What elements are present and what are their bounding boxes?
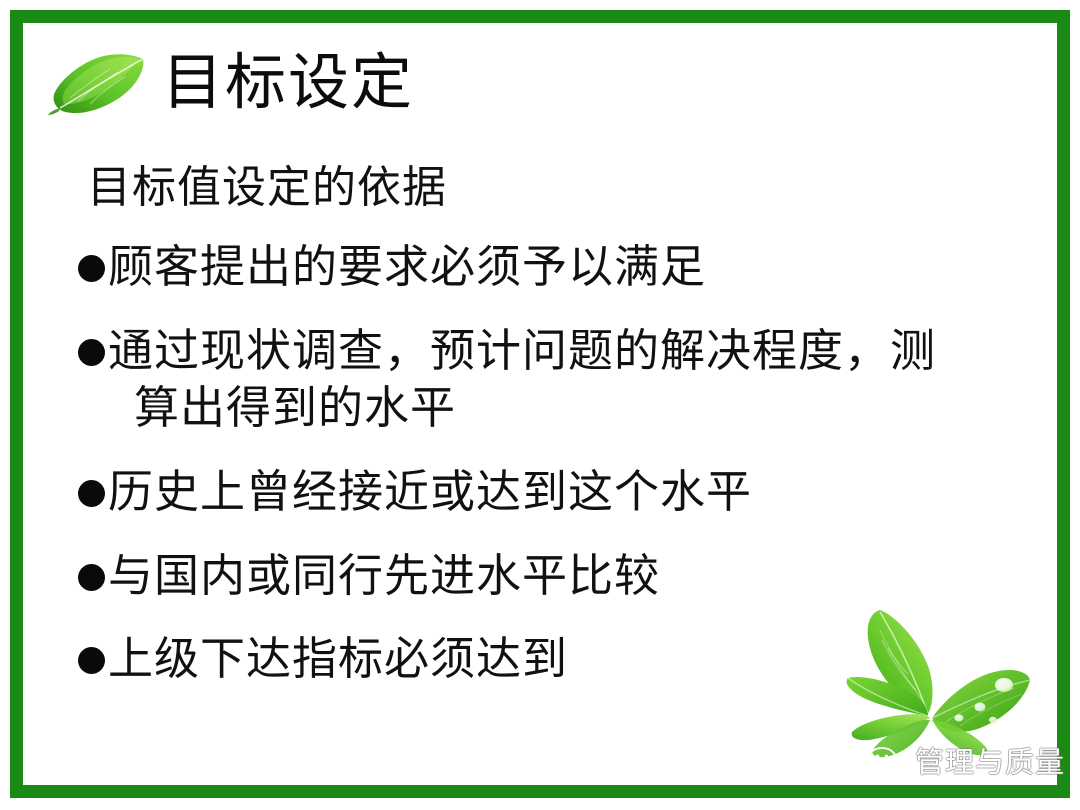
water-droplet-icon	[995, 678, 1013, 692]
bullet-text-3: 历史上曾经接近或达到这个水平	[108, 463, 752, 521]
bullet-item-2: 通过现状调查，预计问题的解决程度，测算出得到的水平	[78, 322, 1008, 437]
bullet-dot-icon	[78, 255, 105, 282]
bullet-text-2: 通过现状调查，预计问题的解决程度，测算出得到的水平	[108, 322, 936, 437]
bullet-dot-icon	[78, 564, 105, 591]
bullet-dot-icon	[78, 647, 105, 674]
bullet-text-1: 顾客提出的要求必须予以满足	[108, 238, 706, 296]
bullet-text-5: 上级下达指标必须达到	[108, 630, 568, 688]
lead-line: 目标值设定的依据	[87, 163, 1008, 212]
bullet-item-1: 顾客提出的要求必须予以满足	[78, 238, 1008, 296]
slide-border-bottom	[10, 785, 1070, 798]
bullet-text-4: 与国内或同行先进水平比较	[108, 547, 660, 605]
slide-canvas: 目标设定 目标值设定的依据 顾客提出的要求必须予以满足 通过现状调查，预计问题的…	[0, 0, 1080, 810]
bullet-item-3: 历史上曾经接近或达到这个水平	[78, 463, 1008, 521]
water-droplet-icon	[989, 717, 997, 723]
bullet-text-2-line-2: 算出得到的水平	[108, 379, 936, 437]
slide-title-row: 目标设定	[44, 46, 414, 118]
bullet-dot-icon	[78, 339, 105, 366]
wechat-icon	[866, 745, 908, 779]
bullet-dot-icon	[78, 480, 105, 507]
bullet-item-4: 与国内或同行先进水平比较	[78, 547, 1008, 605]
water-droplet-icon	[975, 703, 986, 712]
page-title: 目标设定	[162, 52, 414, 113]
leaf-icon	[44, 46, 156, 118]
slide-border-left	[10, 10, 23, 798]
slide-border-top	[10, 10, 1070, 23]
bullet-text-2-line-1: 通过现状调查，预计问题的解决程度，测	[108, 324, 936, 377]
leaf-cluster-icon	[828, 604, 1060, 764]
watermark-label: 管理与质量	[915, 748, 1065, 777]
water-droplet-icon	[955, 714, 964, 721]
watermark: 管理与质量	[866, 742, 1065, 782]
